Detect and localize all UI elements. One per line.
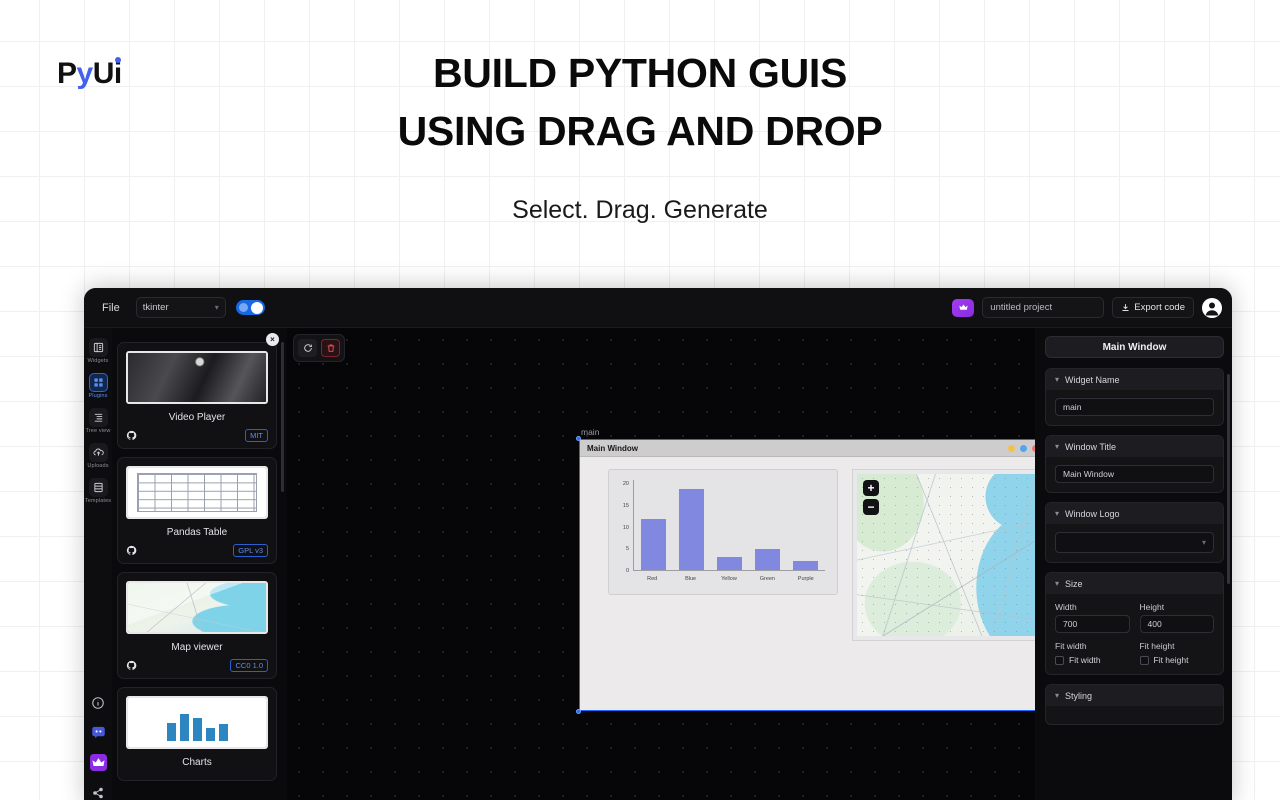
width-label: Width [1055,602,1130,612]
window-controls [1008,445,1035,452]
chart-bars [633,480,825,571]
close-icon[interactable]: × [266,333,279,346]
plugin-card-title: Map viewer [126,642,268,653]
chart-thumbnail-bars [128,698,266,747]
section-widget-name: ▾ Widget Name main [1045,368,1224,426]
properties-panel: Main Window ▾ Widget Name main ▾ Window … [1035,328,1232,800]
widget-name-value: main [1063,402,1081,412]
width-value: 700 [1063,619,1077,629]
topbar-right-group: untitled project Export code [952,297,1222,318]
fit-height-checkbox-row[interactable]: Fit height [1140,655,1215,665]
section-body: Main Window [1046,457,1223,492]
left-rail: Widgets Plugins Tree view Uploads [84,328,112,800]
preview-titlebar: Main Window [580,440,1035,457]
chevron-down-icon: ▾ [1202,538,1206,547]
chart-bar [793,561,818,570]
fit-width-group: Fit width Fit width [1055,633,1130,665]
properties-header: Main Window [1045,336,1224,358]
section-header-size[interactable]: ▾ Size [1046,573,1223,594]
plugins-scrollbar[interactable] [281,342,284,492]
framework-select-value: tkinter [143,302,169,313]
section-header-widget-name[interactable]: ▾ Widget Name [1046,369,1223,390]
video-thumbnail [126,351,268,404]
fit-height-label: Fit height [1140,641,1215,651]
plugin-card-charts[interactable]: Charts [117,687,277,781]
toggle-track-dot [239,303,248,312]
sidebar-label-plugins: Plugins [84,393,112,399]
sidebar-item-uploads[interactable]: Uploads [84,443,112,469]
sidebar-item-templates[interactable]: Templates [84,478,112,504]
height-label: Height [1140,602,1215,612]
zoom-out-button[interactable]: − [863,499,879,515]
toggle-knob [251,302,263,314]
fit-width-checkbox-row[interactable]: Fit width [1055,655,1130,665]
plugin-card-footer: GPL v3 [126,544,268,557]
map-thumbnail [126,581,268,634]
section-title: Size [1065,579,1083,589]
chart-bar [679,489,704,570]
project-name-input[interactable]: untitled project [982,297,1104,318]
chart-y-tick: 20 [623,481,629,487]
map-image[interactable]: + − [857,474,1035,636]
page-title: BUILD PYTHON GUIS USING DRAG AND DROP [0,44,1280,160]
crown-icon[interactable] [952,299,974,317]
license-badge: CC0 1.0 [230,659,268,672]
selected-widget-label: main [581,427,599,437]
section-body [1046,706,1223,724]
chart-bar [641,519,666,570]
project-name-value: untitled project [990,302,1052,313]
zoom-in-button[interactable]: + [863,480,879,496]
github-icon [126,660,137,671]
app-window-screenshot: File tkinter ▾ untitled project Export c… [84,288,1232,800]
theme-toggle[interactable] [236,300,265,315]
size-inputs-row: Width 700 Height 400 [1055,602,1214,633]
github-icon [126,545,137,556]
fit-height-checkbox-label: Fit height [1154,655,1189,665]
github-icon [126,430,137,441]
main-window-preview[interactable]: Main Window 05101520 RedBlueYellowGreenP… [579,439,1035,711]
height-value: 400 [1148,619,1162,629]
chart-x-labels: RedBlueYellowGreenPurple [633,572,825,586]
chart-y-tick: 0 [626,568,629,574]
window-dot-blue[interactable] [1020,445,1027,452]
chevron-down-icon: ▾ [1055,375,1059,384]
delete-icon[interactable] [321,339,340,357]
sidebar-label-widgets: Widgets [84,358,112,364]
download-icon [1121,303,1130,312]
preview-body: 05101520 RedBlueYellowGreenPurple + − [580,457,1035,710]
hero-line-2: USING DRAG AND DROP [0,102,1280,160]
plugin-card-list: Video Player MIT Pandas Table GPL v3 [117,342,277,800]
hero-line-1: BUILD PYTHON GUIS [0,44,1280,102]
upload-cloud-icon [89,443,108,462]
chart-y-tick: 5 [626,546,629,552]
file-menu-button[interactable]: File [94,298,128,318]
chart-bar [755,549,780,570]
preview-window-title: Main Window [587,444,638,453]
plugins-grid-icon [89,373,108,392]
canvas-toolbar [293,334,345,362]
export-code-label: Export code [1134,302,1185,313]
chart-thumbnail [126,696,268,749]
height-input[interactable]: 400 [1140,615,1215,633]
sidebar-label-tree-view: Tree view [84,428,112,434]
chart-y-tick: 15 [623,503,629,509]
window-logo-select[interactable]: ▾ [1055,532,1214,553]
plugin-card-video-player[interactable]: Video Player MIT [117,342,277,449]
section-body: main [1046,390,1223,425]
widget-name-input[interactable]: main [1055,398,1214,416]
width-group: Width 700 [1055,602,1130,633]
chevron-down-icon: ▾ [1055,579,1059,588]
section-body: Width 700 Height 400 [1046,594,1223,674]
section-title: Window Logo [1065,509,1120,519]
chart-y-tick: 10 [623,525,629,531]
chevron-down-icon: ▾ [1055,509,1059,518]
sidebar-label-templates: Templates [84,498,112,504]
height-group: Height 400 [1140,602,1215,633]
width-input[interactable]: 700 [1055,615,1130,633]
export-code-button[interactable]: Export code [1112,297,1194,318]
sidebar-item-widgets[interactable]: Widgets [84,338,112,364]
window-title-input[interactable]: Main Window [1055,465,1214,483]
fit-width-checkbox[interactable] [1055,656,1064,665]
section-window-logo: ▾ Window Logo ▾ [1045,502,1224,563]
plugin-card-title: Pandas Table [126,527,268,538]
sidebar-label-uploads: Uploads [84,463,112,469]
chart-y-axis: 05101520 [615,480,631,571]
section-window-title: ▾ Window Title Main Window [1045,435,1224,493]
table-thumbnail [126,466,268,519]
resize-handle-tl[interactable] [576,436,581,441]
widgets-icon [89,338,108,357]
window-dot-yellow[interactable] [1008,445,1015,452]
plugin-card-pandas-table[interactable]: Pandas Table GPL v3 [117,457,277,564]
chart-x-label: Blue [678,576,703,582]
section-title: Styling [1065,691,1092,701]
chart-x-label: Green [755,576,780,582]
chart-x-label: Red [640,576,665,582]
crown-icon[interactable] [89,753,108,772]
discord-icon[interactable] [89,723,108,742]
plugin-card-footer: CC0 1.0 [126,659,268,672]
plugin-card-footer: MIT [126,429,268,442]
plugin-card-map-viewer[interactable]: Map viewer CC0 1.0 [117,572,277,679]
app-topbar: File tkinter ▾ untitled project Export c… [84,288,1232,328]
license-badge: GPL v3 [233,544,268,557]
map-widget[interactable]: + − [852,469,1035,641]
map-zoom-controls: + − [863,480,879,515]
fit-labels-row: Fit width Fit width Fit height Fit heigh… [1055,633,1214,665]
chart-x-label: Purple [793,576,818,582]
page-root: PyUi BUILD PYTHON GUIS USING DRAG AND DR… [0,0,1280,800]
plugin-card-title: Charts [126,757,268,768]
section-header-window-title[interactable]: ▾ Window Title [1046,436,1223,457]
fit-width-checkbox-label: Fit width [1069,655,1101,665]
framework-select[interactable]: tkinter ▾ [136,297,226,318]
window-title-value: Main Window [1063,469,1114,479]
section-title: Widget Name [1065,375,1120,385]
chevron-down-icon: ▾ [215,303,219,312]
sidebar-item-plugins[interactable]: Plugins [84,373,112,399]
chart-x-label: Yellow [716,576,741,582]
plugin-card-title: Video Player [126,412,268,423]
templates-icon [89,478,108,497]
chevron-down-icon: ▾ [1055,442,1059,451]
bar-chart-plot: 05101520 RedBlueYellowGreenPurple [615,480,827,588]
section-header-window-logo[interactable]: ▾ Window Logo [1046,503,1223,524]
section-body: ▾ [1046,524,1223,562]
sidebar-item-tree-view[interactable]: Tree view [84,408,112,434]
refresh-icon[interactable] [298,339,317,357]
fit-height-checkbox[interactable] [1140,656,1149,665]
info-icon[interactable] [89,693,108,712]
tree-view-icon [89,408,108,427]
section-title: Window Title [1065,442,1116,452]
section-styling: ▾ Styling [1045,684,1224,725]
design-canvas[interactable]: main Main Window [287,328,1035,800]
share-icon[interactable] [89,783,108,800]
section-header-styling[interactable]: ▾ Styling [1046,685,1223,706]
hero-subtitle: Select. Drag. Generate [0,196,1280,225]
license-badge: MIT [245,429,268,442]
section-size: ▾ Size Width 700 Height [1045,572,1224,675]
user-avatar-icon[interactable] [1202,298,1222,318]
plugins-panel: × Video Player MIT Pandas Table [112,328,287,800]
rail-bottom-group [89,693,108,800]
chart-bar [717,557,742,570]
fit-height-group: Fit height Fit height [1140,633,1215,665]
properties-scrollbar[interactable] [1227,374,1230,584]
fit-width-label: Fit width [1055,641,1130,651]
bar-chart-widget[interactable]: 05101520 RedBlueYellowGreenPurple [608,469,838,595]
chevron-down-icon: ▾ [1055,691,1059,700]
